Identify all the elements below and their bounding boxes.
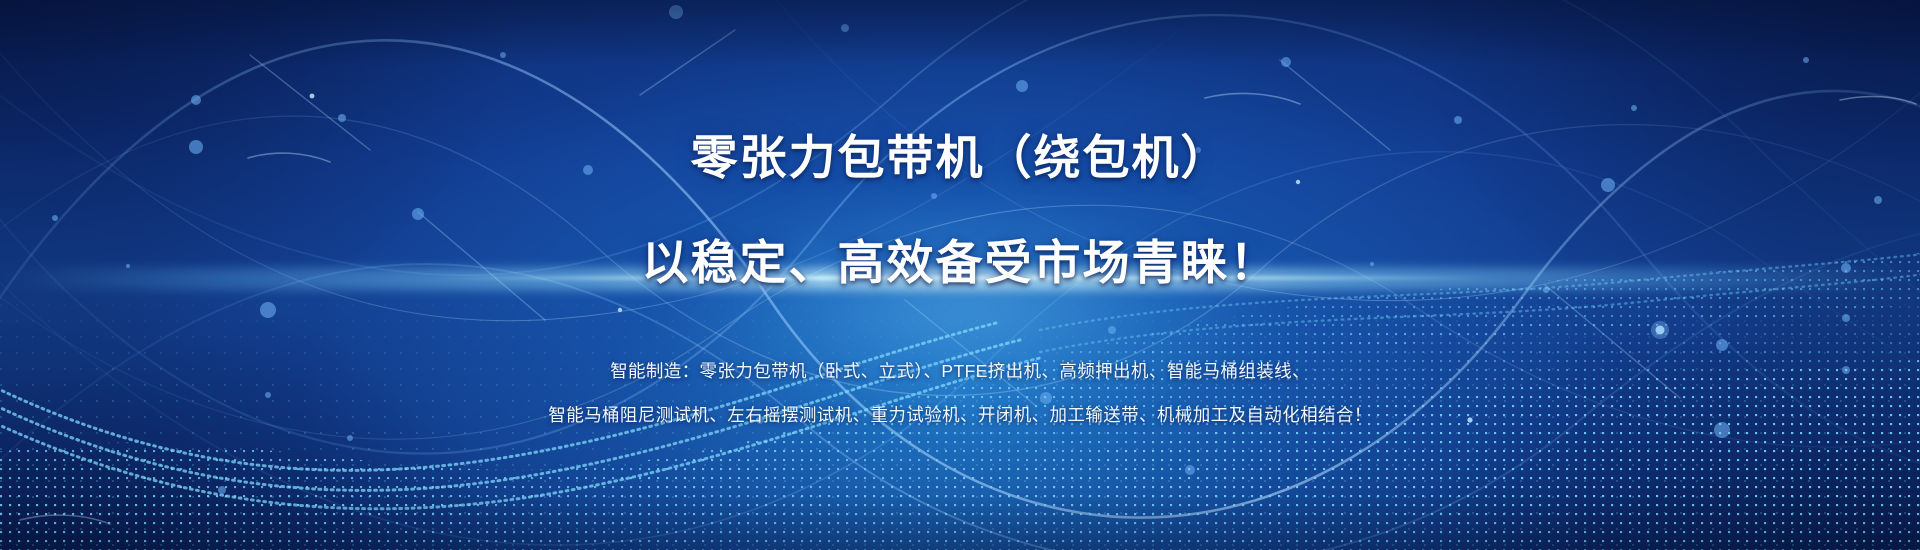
subtitle-line-1: 智能制造：零张力包带机（卧式、立式）、PTFE挤出机、高频押出机、智能马桶组装线… bbox=[548, 359, 1371, 384]
headline-line-2: 以稳定、高效备受市场青睐！ bbox=[642, 232, 1279, 293]
hero-banner: 零张力包带机（绕包机） 以稳定、高效备受市场青睐！ 智能制造：零张力包带机（卧式… bbox=[0, 0, 1920, 550]
headline-line-1: 零张力包带机（绕包机） bbox=[691, 127, 1230, 188]
subtitle-block: 智能制造：零张力包带机（卧式、立式）、PTFE挤出机、高频押出机、智能马桶组装线… bbox=[548, 359, 1371, 429]
subtitle-line-2: 智能马桶阻尼测试机、左右摇摆测试机、重力试验机、开闭机、加工输送带、机械加工及自… bbox=[548, 403, 1371, 428]
banner-content: 零张力包带机（绕包机） 以稳定、高效备受市场青睐！ 智能制造：零张力包带机（卧式… bbox=[0, 0, 1920, 550]
